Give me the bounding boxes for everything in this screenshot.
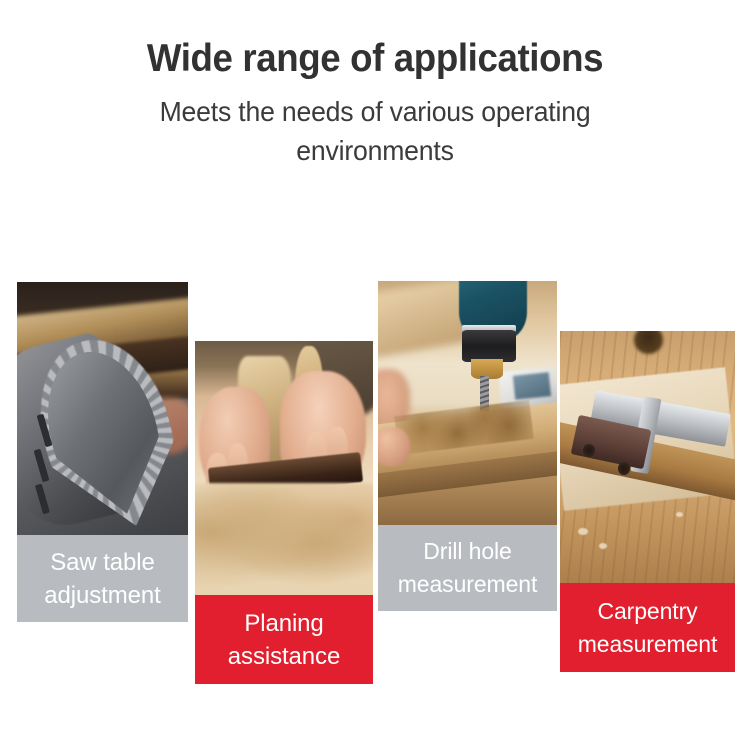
page-title: Wide range of applications	[23, 0, 728, 82]
carpenters-square-photo-illustration	[560, 331, 735, 583]
card-image-carpentry-measurement	[560, 331, 735, 583]
caption-line-1: Drill hole	[423, 535, 511, 568]
caption-line-2: assistance	[228, 640, 340, 673]
card-caption-saw-table-adjustment: Saw table adjustment	[17, 535, 188, 622]
page-subtitle: Meets the needs of various operating env…	[19, 82, 732, 170]
card-caption-planing-assistance: Planing assistance	[195, 595, 373, 684]
card-image-saw-table-adjustment	[17, 282, 188, 535]
page-subtitle-line-1: Meets the needs of various operating	[160, 96, 591, 127]
header: Wide range of applications Meets the nee…	[0, 0, 750, 170]
card-image-drill-hole-measurement	[378, 281, 557, 525]
card-caption-drill-hole-measurement: Drill hole measurement	[378, 525, 557, 611]
caption-line-1: Saw table	[50, 546, 155, 579]
application-card-drill-hole-measurement[interactable]: Drill hole measurement	[378, 281, 557, 611]
caption-line-2: adjustment	[44, 579, 160, 612]
application-card-planing-assistance[interactable]: Planing assistance	[195, 341, 373, 684]
application-card-carpentry-measurement[interactable]: Carpentry measurement	[560, 331, 735, 672]
card-caption-carpentry-measurement: Carpentry measurement	[560, 583, 735, 672]
caption-line-2: measurement	[398, 568, 538, 601]
caption-line-1: Planing	[244, 607, 323, 640]
caption-line-2: measurement	[578, 628, 718, 661]
caption-line-1: Carpentry	[597, 595, 697, 628]
card-image-planing-assistance	[195, 341, 373, 595]
drill-photo-illustration	[378, 281, 557, 525]
page-subtitle-line-2: environments	[19, 131, 732, 170]
application-card-saw-table-adjustment[interactable]: Saw table adjustment	[17, 282, 188, 622]
saw-blade-photo-illustration	[17, 282, 188, 535]
applications-banner: Wide range of applications Meets the nee…	[0, 0, 750, 750]
hand-planing-photo-illustration	[195, 341, 373, 595]
